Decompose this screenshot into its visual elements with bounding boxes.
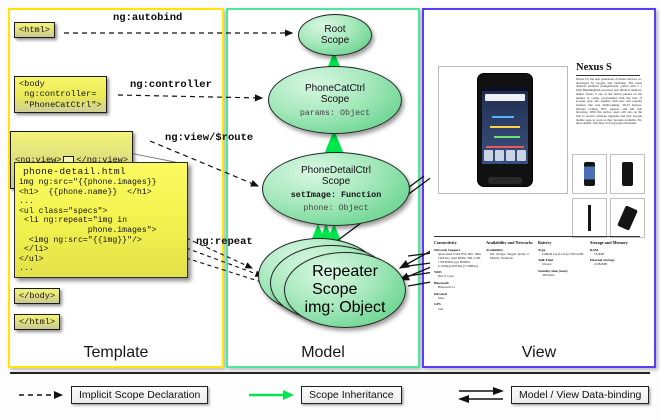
- spec-values-1-0: Lithium Ion (Li-Ion) 1500 mAH: [538, 252, 586, 256]
- scope-phonedetailctrl-name-1: PhoneDetailCtrl: [301, 165, 371, 176]
- scope-phonecatctrl-name-2: Scope: [305, 94, 365, 105]
- scope-repeater-name-2: Scope: [312, 281, 378, 299]
- phone-searchbar: [485, 94, 525, 101]
- scope-phonecatctrl: PhoneCatCtrl Scope params: Object: [268, 66, 402, 134]
- view-product-description: Nexus S is the next generation of Nexus …: [576, 78, 642, 126]
- legend-divider: [10, 372, 650, 374]
- phone-screen: [482, 86, 528, 164]
- spec-values-1-1: 6 hours: [538, 262, 586, 266]
- label-ng-autobind: ng:autobind: [113, 12, 182, 24]
- spec-values-1-2: 428 hours: [538, 273, 586, 277]
- code-html-close: </html>: [14, 314, 60, 330]
- panel-model-label: Model: [228, 344, 418, 362]
- green-arrow-icon: [248, 389, 294, 401]
- legend-label-1: Scope Inheritance: [301, 386, 402, 404]
- view-title-rule: [576, 75, 640, 76]
- spec-column-storage: Storage and Memory RAM 512MB Internal St…: [590, 240, 638, 266]
- spec-header-1: Battery: [538, 240, 586, 245]
- scope-root: Root Scope: [298, 14, 372, 56]
- scope-repeater-name-1: Repeater: [312, 263, 378, 281]
- spec-values-3-0: Quad-band GSM: 850, 900, 1800, 1900 De- …: [434, 252, 482, 268]
- legend-label-2: Model / View Data-binding: [511, 386, 649, 404]
- diagram-canvas: Template Model View: [0, 0, 660, 420]
- scope-phonedetailctrl-attr-setimage: setImage: Function: [291, 190, 381, 200]
- spec-column-battery: Battery Type Lithium Ion (Li-Ion) 1500 m…: [538, 240, 586, 277]
- legend-item-scope-inheritance: Scope Inheritance: [248, 386, 402, 404]
- spec-values-3-4: true: [434, 307, 482, 311]
- spec-values-2-0: 512MB: [590, 252, 638, 256]
- phone-screen-line-1: [492, 116, 514, 118]
- phone-screen-line-2: [490, 126, 520, 128]
- view-rendered-page: Nexus S Nexus S is the next generation o…: [430, 14, 644, 344]
- spec-column-connectivity: Connectivity Network Support Quad-band G…: [434, 240, 482, 311]
- spec-values-0-0: M1, Orange, Singtel, Sprint, T-Mobile, V…: [486, 252, 534, 260]
- view-thumbnail-grid: [572, 154, 644, 238]
- phone-button-row: [488, 177, 522, 184]
- label-ng-view-route: ng:view/$route: [165, 132, 253, 144]
- thumbnail-phone-front[interactable]: [572, 154, 607, 194]
- scope-phonedetailctrl: PhoneDetailCtrl Scope setImage: Function…: [262, 152, 410, 226]
- view-spec-table: Availability and Networks Availability M…: [434, 240, 640, 340]
- phone-screen-line-3: [494, 136, 520, 138]
- spec-header-0: Availability and Networks: [486, 240, 534, 245]
- thumbnail-phone-back[interactable]: [610, 154, 645, 194]
- legend-item-data-binding: Model / View Data-binding: [458, 386, 649, 404]
- spec-header-3: Connectivity: [434, 240, 482, 245]
- label-ng-controller: ng:controller: [130, 79, 212, 91]
- dashed-arrow-icon: [18, 389, 64, 401]
- scope-root-name-1: Root: [321, 24, 349, 35]
- code-body-open: <body ng:controller= "PhoneCatCtrl">: [14, 76, 107, 113]
- sticky-note-phone-detail: phone-detail.html img ng:src="{{phone.im…: [14, 162, 188, 278]
- hero-image-frame: [438, 66, 568, 194]
- panel-view-label: View: [424, 344, 654, 362]
- scope-phonedetailctrl-attr-phone: phone: Object: [303, 203, 368, 213]
- code-html-open: <html>: [14, 22, 55, 38]
- sticky-note-code: img ng:src="{{phone.images}} <h1> {{phon…: [15, 178, 187, 277]
- label-ng-repeat: ng:repeat: [196, 236, 253, 248]
- phone-statusbar: [482, 86, 528, 91]
- phone-app-dock: [484, 150, 526, 161]
- thumbnail-phone-angled[interactable]: [610, 198, 645, 238]
- spec-column-availability: Availability and Networks Availability M…: [486, 240, 534, 260]
- phone-screen-line-4: [486, 146, 524, 148]
- thumbnail-phone-edge[interactable]: [572, 198, 607, 238]
- spec-values-2-1: 16384MB: [590, 262, 638, 266]
- sticky-note-title: phone-detail.html: [15, 163, 187, 178]
- spec-values-3-1: 802.11 b/g/n: [434, 274, 482, 278]
- scope-phonedetailctrl-name-2: Scope: [301, 176, 371, 187]
- panel-template-label: Template: [10, 344, 222, 362]
- code-body-close: </body>: [14, 288, 60, 304]
- scope-repeater-stack: Repeater Scope img: Object: [258, 238, 410, 338]
- legend-item-implicit-scope-declaration: Implicit Scope Declaration: [18, 386, 208, 404]
- scope-phonecatctrl-name-1: PhoneCatCtrl: [305, 83, 365, 94]
- scope-phonecatctrl-attr-params: params: Object: [300, 108, 370, 118]
- legend-label-0: Implicit Scope Declaration: [71, 386, 208, 404]
- scope-repeater-front: Repeater Scope img: Object: [284, 252, 406, 328]
- double-arrow-icon: [458, 386, 504, 404]
- spec-table-rule: [434, 236, 640, 237]
- scope-repeater-attr-img: img: Object: [305, 299, 386, 317]
- legend: Implicit Scope Declaration Scope Inherit…: [0, 372, 660, 420]
- spec-values-3-2: Bluetooth 2.1: [434, 285, 482, 289]
- view-product-title: Nexus S: [576, 62, 612, 73]
- phone-hero-image: [477, 73, 533, 187]
- spec-header-2: Storage and Memory: [590, 240, 638, 245]
- spec-values-3-3: false: [434, 296, 482, 300]
- scope-root-name-2: Scope: [321, 35, 349, 46]
